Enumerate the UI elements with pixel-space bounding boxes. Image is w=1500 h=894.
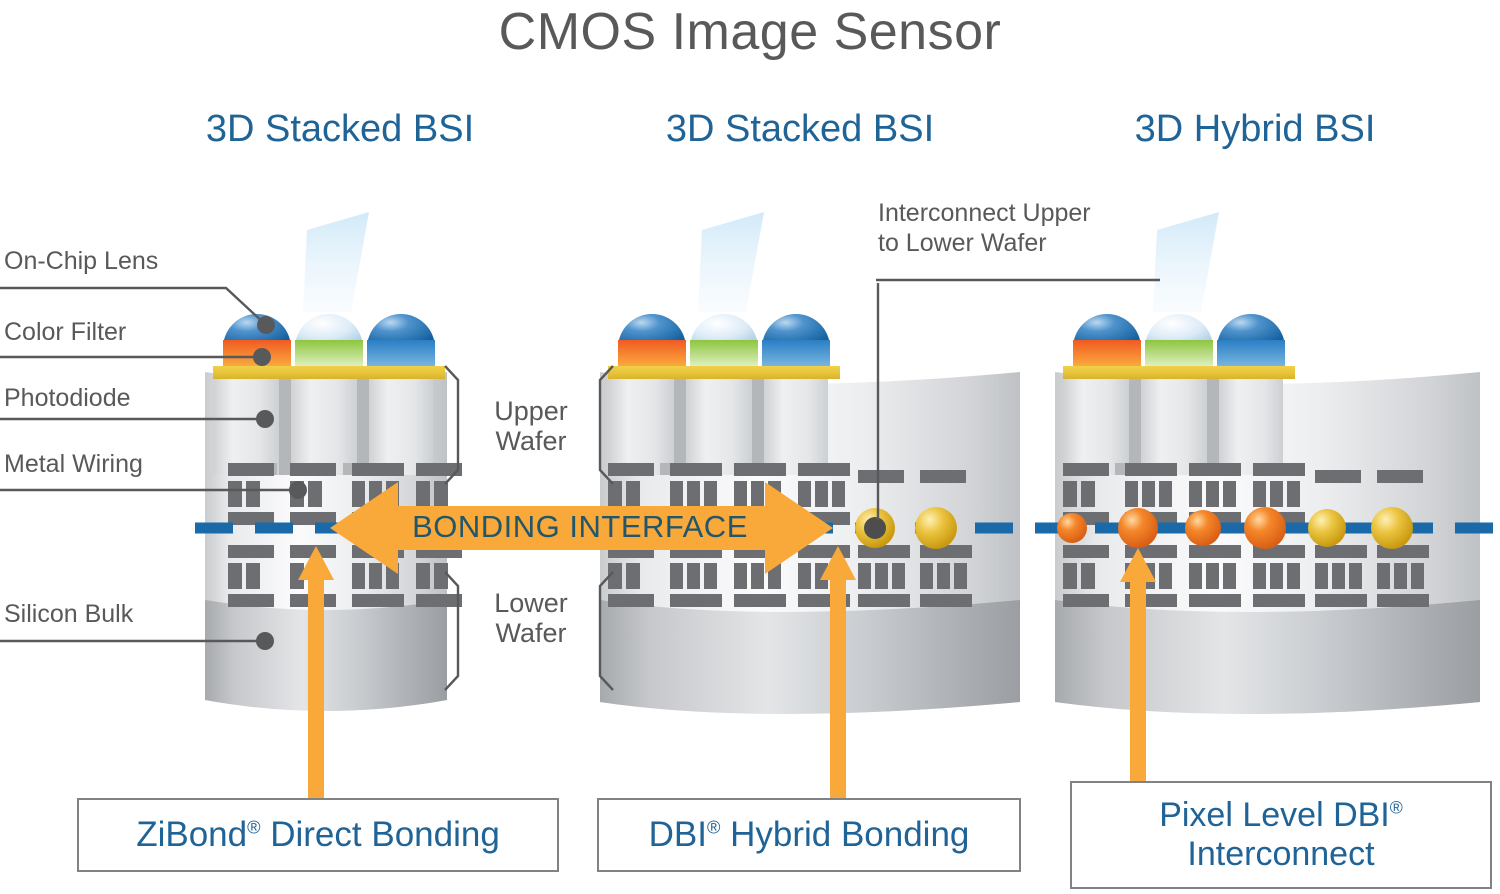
callout-pixel-level-dbi[interactable]: Pixel Level DBI®Interconnect — [1070, 781, 1492, 889]
leader-dot-bulk — [256, 632, 274, 650]
stack-2-pixel-top — [608, 212, 840, 379]
registered-mark-icon: ® — [247, 817, 260, 837]
stack-3-photodiode-wells — [1063, 379, 1283, 475]
interconnect-sphere — [1371, 507, 1413, 549]
silicon-bulk-region — [205, 600, 447, 711]
stack-1-pixel-top — [213, 212, 445, 379]
diagram-canvas — [0, 0, 1500, 894]
callout-zibond[interactable]: ZiBond® Direct Bonding — [77, 798, 559, 872]
interconnect-sphere — [1244, 507, 1286, 549]
callout-dbi-hybrid[interactable]: DBI® Hybrid Bonding — [597, 798, 1021, 872]
silicon-bulk-region — [600, 600, 1020, 714]
interconnect-sphere — [1308, 509, 1346, 547]
callout-2-name: DBI — [649, 815, 707, 854]
interconnect-sphere — [1057, 513, 1087, 543]
interconnect-sphere — [915, 507, 957, 549]
leader-dot-photodiode — [256, 410, 274, 428]
interconnect-sphere — [1185, 510, 1221, 546]
callout-3-rest: Interconnect — [1187, 835, 1374, 873]
stack-3-pixel-top — [1063, 212, 1295, 379]
interconnect-via-core — [864, 517, 886, 539]
callout-1-name: ZiBond — [136, 815, 247, 854]
callout-2-rest: Hybrid Bonding — [720, 815, 969, 854]
registered-mark-icon: ® — [707, 817, 720, 837]
leader-dot-filter — [253, 348, 271, 366]
stack-2-photodiode-wells — [608, 379, 828, 475]
bonding-interface-label: BONDING INTERFACE — [380, 509, 780, 545]
stack-1-photodiode-wells — [213, 379, 433, 475]
interconnect-sphere — [1118, 508, 1158, 548]
leader-dot-metal — [289, 481, 307, 499]
registered-mark-icon: ® — [1390, 798, 1403, 818]
callout-1-rest: Direct Bonding — [261, 815, 500, 854]
callout-3-name: Pixel Level DBI — [1159, 796, 1390, 834]
leader-dot-lens — [257, 316, 275, 334]
silicon-bulk-region — [1055, 600, 1480, 714]
